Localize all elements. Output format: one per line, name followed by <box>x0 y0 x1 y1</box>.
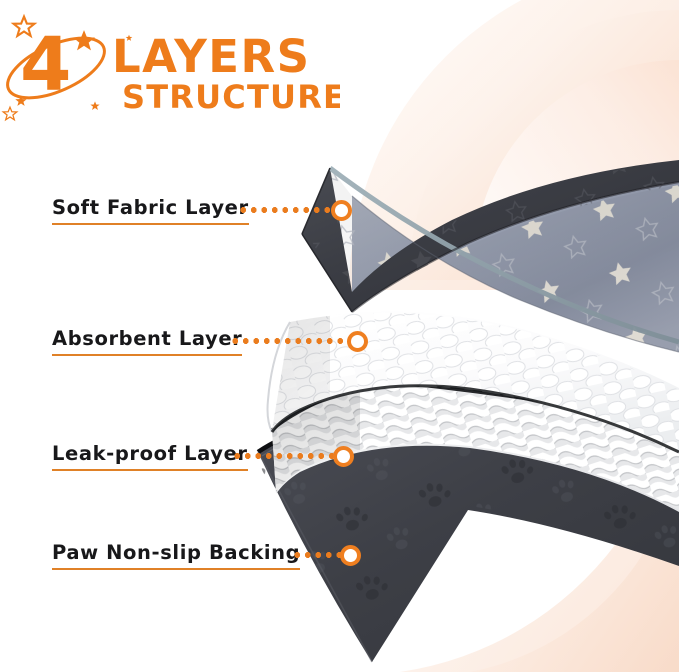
leader-line-absorbent-layer <box>230 338 349 344</box>
callout-label-absorbent-layer: Absorbent Layer <box>52 326 242 356</box>
page-title: 4 LAYERS STRUCTURE <box>0 6 340 122</box>
callout-label-leak-proof-layer: Leak-proof Layer <box>52 441 248 471</box>
callout-label-paw-non-slip-backing: Paw Non-slip Backing <box>52 540 300 570</box>
star-small-bottom <box>90 101 99 110</box>
layer-marker-2[interactable] <box>347 331 368 352</box>
callout-leak-proof-layer[interactable]: Leak-proof Layer <box>52 441 248 475</box>
callout-paw-non-slip-backing[interactable]: Paw Non-slip Backing <box>52 540 300 574</box>
layer-marker-1[interactable] <box>331 200 352 221</box>
infographic-canvas: 4 LAYERS STRUCTURE <box>0 0 679 672</box>
star-filled-upper-right <box>75 32 94 49</box>
title-line-layers: LAYERS <box>112 30 311 83</box>
title-line-structure: STRUCTURE <box>122 78 340 116</box>
layer-marker-4[interactable] <box>340 545 361 566</box>
star-outline-bottom-left <box>3 107 17 120</box>
leader-line-paw-non-slip-backing <box>292 552 342 558</box>
leader-line-leak-proof-layer <box>232 453 335 459</box>
callout-absorbent-layer[interactable]: Absorbent Layer <box>52 326 242 360</box>
callout-soft-fabric-layer[interactable]: Soft Fabric Layer <box>52 195 249 229</box>
callout-label-soft-fabric-layer: Soft Fabric Layer <box>52 195 249 225</box>
leader-line-soft-fabric-layer <box>238 207 333 213</box>
layer-marker-3[interactable] <box>333 446 354 467</box>
